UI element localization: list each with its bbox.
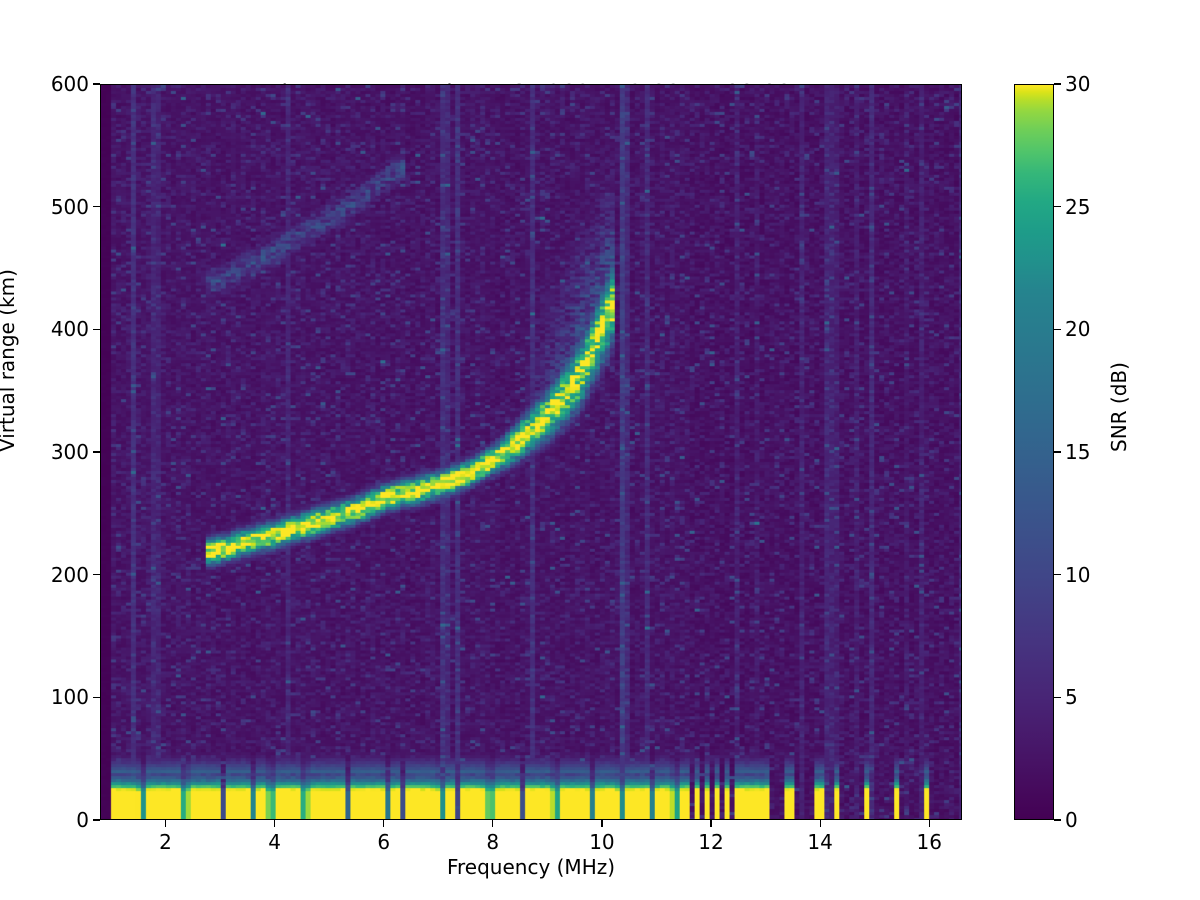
colorbar-tick-label: 30 [1065,72,1090,96]
x-tick-mark [274,820,275,827]
x-tick-label: 2 [159,830,172,854]
x-tick-label: 10 [589,830,614,854]
x-tick-mark [383,820,384,827]
figure-canvas: IRF Kiruna Ionosonde KI167 2025-12-09 11… [0,0,1200,900]
x-tick-label: 6 [377,830,390,854]
x-tick-mark [492,820,493,827]
colorbar [1014,84,1054,820]
colorbar-tick-label: 15 [1065,440,1090,464]
y-tick-label: 400 [51,317,89,341]
x-tick-mark [165,820,166,827]
x-axis-label: Frequency (MHz) [100,855,962,879]
ionogram-heatmap [101,85,961,819]
y-tick-label: 300 [51,440,89,464]
y-tick-label: 0 [76,808,89,832]
colorbar-tick-label: 25 [1065,195,1090,219]
colorbar-tick-label: 5 [1065,685,1078,709]
y-tick-mark [93,329,100,330]
colorbar-tick-mark [1054,206,1061,207]
x-tick-label: 8 [486,830,499,854]
ionogram-plot-area[interactable] [100,84,962,820]
x-tick-mark [601,820,602,827]
x-tick-label: 14 [807,830,832,854]
colorbar-tick-mark [1054,819,1061,820]
y-tick-mark [93,83,100,84]
colorbar-tick-mark [1054,329,1061,330]
x-tick-label: 4 [268,830,281,854]
colorbar-tick-label: 10 [1065,563,1090,587]
y-axis-label: Virtual range (km) [0,269,19,452]
x-tick-mark [710,820,711,827]
y-tick-label: 500 [51,195,89,219]
y-tick-label: 200 [51,563,89,587]
colorbar-tick-mark [1054,697,1061,698]
colorbar-tick-label: 0 [1065,808,1078,832]
colorbar-tick-mark [1054,574,1061,575]
y-tick-mark [93,451,100,452]
x-tick-label: 12 [698,830,723,854]
colorbar-tick-mark [1054,83,1061,84]
y-tick-label: 600 [51,72,89,96]
y-tick-mark [93,697,100,698]
colorbar-tick-label: 20 [1065,317,1090,341]
y-tick-label: 100 [51,685,89,709]
colorbar-label: SNR (dB) [1107,362,1131,452]
y-tick-mark [93,206,100,207]
y-tick-mark [93,574,100,575]
x-tick-mark [929,820,930,827]
x-tick-mark [820,820,821,827]
colorbar-tick-mark [1054,451,1061,452]
y-tick-mark [93,819,100,820]
x-tick-label: 16 [917,830,942,854]
